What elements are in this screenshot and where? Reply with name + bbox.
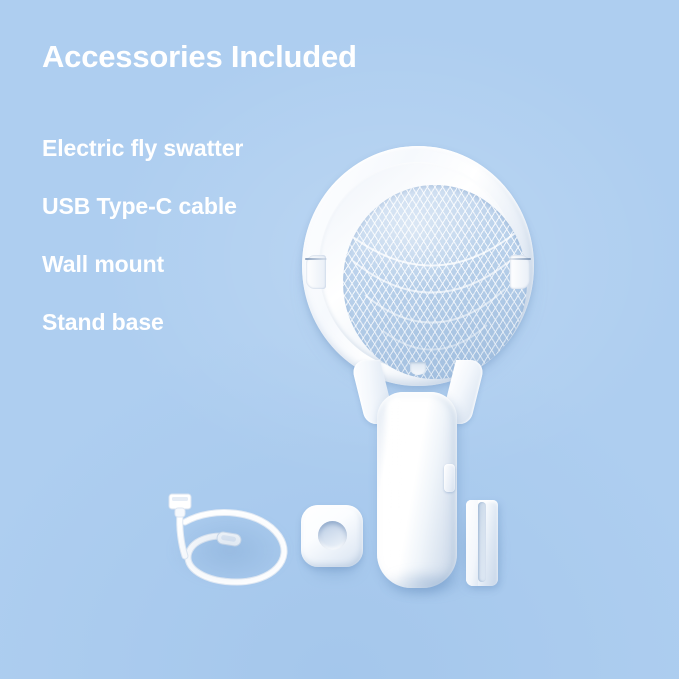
racket-hinge-seam-left: [305, 258, 327, 260]
yoke-notch: [410, 362, 426, 375]
handle-highlight: [387, 398, 403, 576]
mesh-sheen: [343, 185, 527, 379]
usb-type-c-cable: [155, 492, 300, 592]
racket-hinge-right: [510, 255, 530, 289]
wall-mount-lip: [466, 500, 478, 586]
list-item: Wall mount: [42, 249, 243, 307]
page-title: Accessories Included: [42, 39, 357, 75]
racket-inner-bezel: [319, 162, 517, 370]
handle-shadow: [384, 570, 468, 596]
wall-mount-channel: [478, 502, 486, 582]
product-image-scene: Accessories Included Electric fly swatte…: [0, 0, 679, 679]
stand-base-recess: [318, 521, 347, 550]
stand-base-body: [301, 505, 363, 567]
cable-shadow: [169, 512, 291, 582]
power-button: [444, 464, 455, 492]
list-item: Stand base: [42, 307, 243, 365]
racket-hinge-left: [306, 255, 326, 289]
wall-mount: [458, 500, 512, 592]
stand-base: [301, 505, 367, 581]
list-item: USB Type-C cable: [42, 191, 243, 249]
cable-connector-a: [169, 494, 191, 517]
racket-hinge-seam-right: [509, 258, 531, 260]
racket-head-rim: [302, 146, 534, 386]
racket-mesh-grid: [343, 185, 527, 379]
accessories-list: Electric fly swatter USB Type-C cable Wa…: [42, 133, 243, 365]
list-item: Electric fly swatter: [42, 133, 243, 191]
